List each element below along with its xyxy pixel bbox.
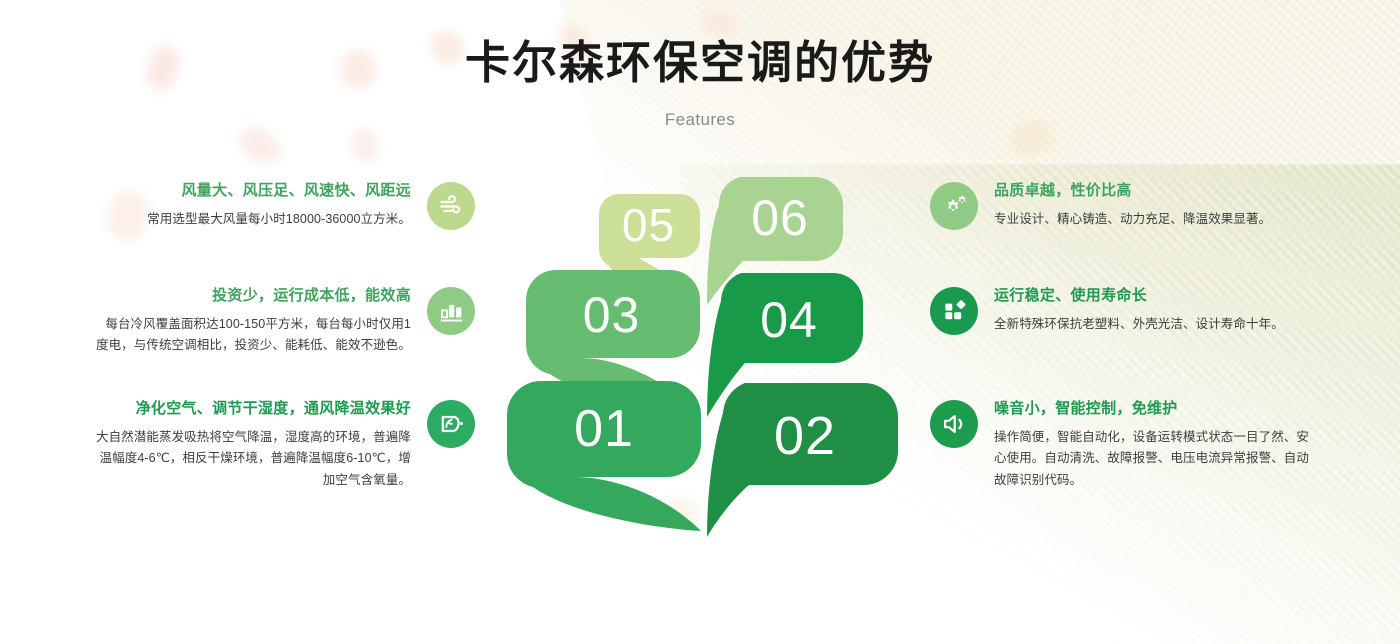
feature-title: 噪音小，智能控制，免维护	[994, 398, 1310, 421]
leaf-01[interactable]: 01	[505, 379, 703, 534]
leaf-02-number: 02	[735, 405, 875, 467]
feature-description: 每台冷风覆盖面积达100-150平方米，每台每小时仅用1度电，与传统空调相比，投…	[95, 314, 411, 357]
feature-text: 净化空气、调节干湿度，通风降温效果好 大自然潜能蒸发吸热将空气降温，湿度高的环境…	[95, 398, 427, 491]
feature-description: 专业设计、精心铸造、动力充足、降温效果显著。	[994, 209, 1310, 231]
page-header: 卡尔森环保空调的优势 Features	[0, 36, 1400, 130]
feature-item-06[interactable]: 品质卓越，性价比高 专业设计、精心铸造、动力充足、降温效果显著。	[930, 180, 1310, 230]
feature-title: 风量大、风压足、风速快、风距远	[95, 180, 411, 203]
leaf-cluster-graphic: 05 06 03 04 01	[480, 175, 920, 555]
feature-item-03[interactable]: 投资少，运行成本低，能效高 每台冷风覆盖面积达100-150平方米，每台每小时仅…	[95, 285, 475, 357]
leaf-06-number: 06	[725, 189, 835, 247]
feature-text: 风量大、风压足、风速快、风距远 常用选型最大风量每小时18000-36000立方…	[95, 180, 427, 230]
feature-text: 投资少，运行成本低，能效高 每台冷风覆盖面积达100-150平方米，每台每小时仅…	[95, 285, 427, 357]
feature-description: 操作简便，智能自动化，设备运转模式状态一目了然、安心使用。自动清洗、故障报警、电…	[994, 427, 1310, 492]
leaf-04-number: 04	[729, 291, 849, 349]
speaker-icon	[930, 400, 978, 448]
feature-item-04[interactable]: 运行稳定、使用寿命长 全新特殊环保抗老塑料、外壳光洁、设计寿命十年。	[930, 285, 1310, 335]
feature-title: 运行稳定、使用寿命长	[994, 285, 1310, 308]
leaf-03-number: 03	[534, 286, 689, 344]
feature-description: 常用选型最大风量每小时18000-36000立方米。	[95, 209, 411, 231]
leaf-05-number: 05	[597, 198, 700, 252]
leaf-icon	[427, 400, 475, 448]
bar-chart-icon	[427, 287, 475, 335]
petal-shape	[349, 126, 382, 165]
feature-item-02[interactable]: 噪音小，智能控制，免维护 操作简便，智能自动化，设备运转模式状态一目了然、安心使…	[930, 398, 1310, 491]
blocks-icon	[930, 287, 978, 335]
feature-description: 大自然潜能蒸发吸热将空气降温，湿度高的环境，普遍降温幅度4-6℃，相反干燥环境，…	[95, 427, 411, 492]
feature-text: 品质卓越，性价比高 专业设计、精心铸造、动力充足、降温效果显著。	[978, 180, 1310, 230]
feature-item-01[interactable]: 净化空气、调节干湿度，通风降温效果好 大自然潜能蒸发吸热将空气降温，湿度高的环境…	[95, 398, 475, 491]
gears-icon	[930, 182, 978, 230]
feature-text: 运行稳定、使用寿命长 全新特殊环保抗老塑料、外壳光洁、设计寿命十年。	[978, 285, 1310, 335]
feature-text: 噪音小，智能控制，免维护 操作简便，智能自动化，设备运转模式状态一目了然、安心使…	[978, 398, 1310, 491]
feature-item-05[interactable]: 风量大、风压足、风速快、风距远 常用选型最大风量每小时18000-36000立方…	[95, 180, 475, 230]
leaf-02[interactable]: 02	[705, 381, 900, 541]
wind-icon	[427, 182, 475, 230]
page-title: 卡尔森环保空调的优势	[0, 36, 1400, 90]
feature-title: 净化空气、调节干湿度，通风降温效果好	[95, 398, 411, 421]
feature-title: 品质卓越，性价比高	[994, 180, 1310, 203]
page-subtitle: Features	[0, 110, 1400, 130]
feature-description: 全新特殊环保抗老塑料、外壳光洁、设计寿命十年。	[994, 314, 1310, 336]
leaf-01-number: 01	[519, 399, 689, 459]
feature-title: 投资少，运行成本低，能效高	[95, 285, 411, 308]
slide-canvas: 卡尔森环保空调的优势 Features 风量大、风压足、风速快、风距远 常用选型…	[0, 0, 1400, 644]
